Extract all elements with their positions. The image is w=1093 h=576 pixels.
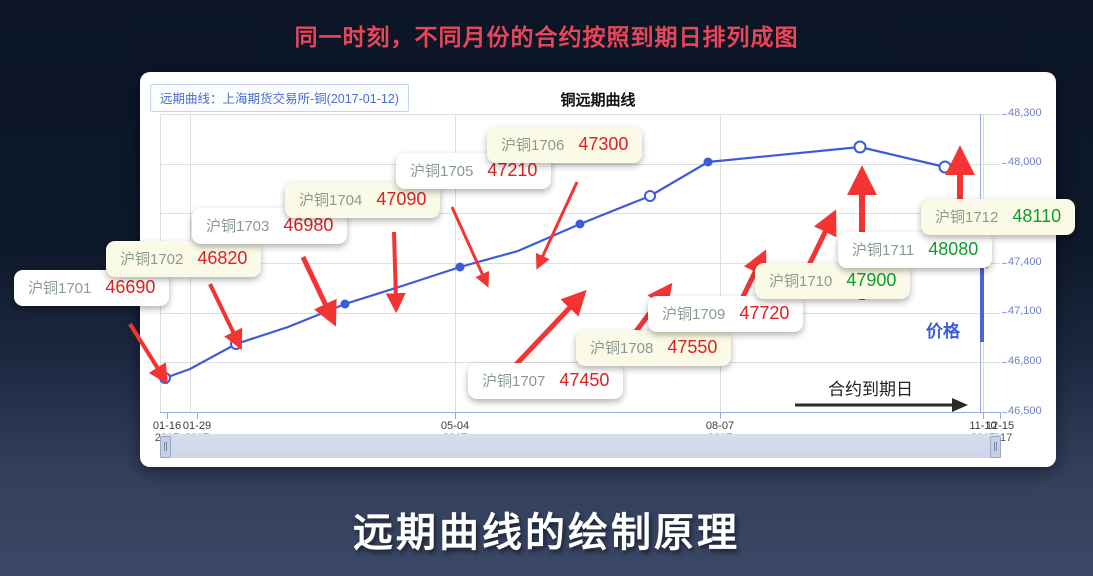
callout-contract-name: 沪铜1704 [299,189,362,210]
bottom-title: 远期曲线的绘制原理 [0,500,1093,558]
callout-hu-cu-1710[interactable]: 沪铜1710 47900 [755,263,910,299]
callout-contract-name: 沪铜1706 [501,134,564,155]
expiry-axis-note: 合约到期日 [828,375,913,400]
price-axis-note: 价格 [926,317,960,342]
callout-price: 47720 [739,303,789,324]
callout-price: 47210 [487,160,537,181]
callout-contract-name: 沪铜1702 [120,248,183,269]
callout-hu-cu-1709[interactable]: 沪铜1709 47720 [648,296,803,332]
callout-price: 47300 [578,134,628,155]
expiry-direction-arrow [795,398,968,412]
callout-price: 48080 [928,239,978,260]
callout-contract-name: 沪铜1707 [482,370,545,391]
callout-price: 47090 [376,189,426,210]
callout-price: 46690 [105,277,155,298]
callout-price: 46820 [197,248,247,269]
callout-price: 46980 [283,215,333,236]
callout-hu-cu-1712[interactable]: 沪铜1712 48110 [921,199,1075,235]
callout-hu-cu-1706[interactable]: 沪铜1706 47300 [487,127,642,163]
callout-hu-cu-1708[interactable]: 沪铜1708 47550 [576,330,731,366]
callout-price: 48110 [1012,206,1061,227]
callout-hu-cu-1711[interactable]: 沪铜1711 48080 [838,232,992,268]
callout-contract-name: 沪铜1705 [410,160,473,181]
callout-hu-cu-1702[interactable]: 沪铜1702 46820 [106,241,261,277]
top-title: 同一时刻，不同月份的合约按照到期日排列成图 [0,18,1093,52]
callout-hu-cu-1707[interactable]: 沪铜1707 47450 [468,363,623,399]
callout-contract-name: 沪铜1701 [28,277,91,298]
callout-price: 47900 [846,270,896,291]
callout-price: 47550 [667,337,717,358]
callout-contract-name: 沪铜1710 [769,270,832,291]
callout-contract-name: 沪铜1703 [206,215,269,236]
callout-contract-name: 沪铜1708 [590,337,653,358]
callout-contract-name: 沪铜1711 [852,239,914,260]
callout-contract-name: 沪铜1712 [935,206,998,227]
callout-price: 47450 [559,370,609,391]
callout-contract-name: 沪铜1709 [662,303,725,324]
